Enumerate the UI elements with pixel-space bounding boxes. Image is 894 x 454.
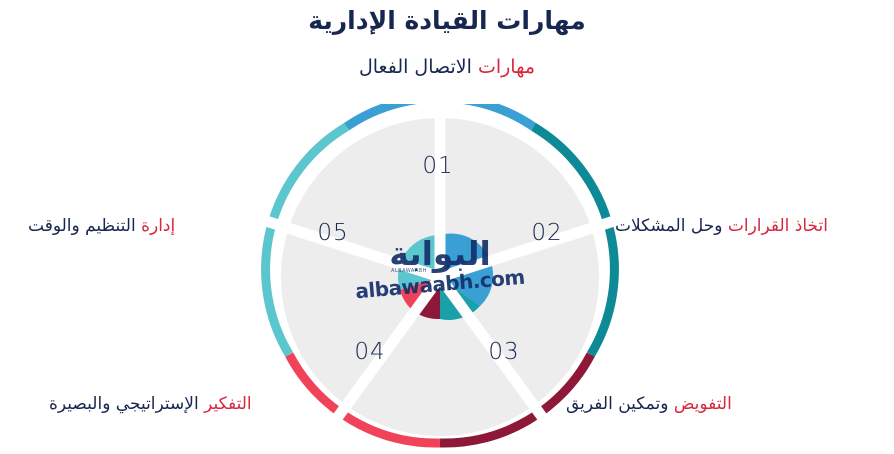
segment-02-label-rest: وحل المشكلات (615, 216, 728, 236)
segment-01-caption-rest: الاتصال الفعال (359, 56, 478, 78)
segment-04-label-rest: الإستراتيجي والبصيرة (49, 394, 204, 414)
segment-05-label-rest: التنظيم والوقت (28, 216, 141, 236)
segment-02-label-highlight: اتخاذ القرارات (728, 216, 828, 236)
segment-03-label-highlight: التفويض (674, 394, 732, 414)
page-title: مهارات القيادة الإدارية (0, 6, 894, 35)
segment-01-caption-highlight: مهارات (478, 56, 535, 78)
segment-number-05: 05 (303, 220, 363, 246)
segment-04-label: التفكير الإستراتيجي والبصيرة (49, 394, 252, 415)
segment-05-label-highlight: إدارة (141, 216, 175, 236)
segment-03-label-rest: وتمكين الفريق (566, 394, 674, 414)
segment-05-label: إدارة التنظيم والوقت (28, 216, 175, 237)
segment-01-caption: مهارات الاتصال الفعال (0, 56, 894, 78)
segment-03-label: التفويض وتمكين الفريق (566, 394, 732, 415)
segment-number-03: 03 (474, 339, 534, 365)
segment-02-label: اتخاذ القرارات وحل المشكلات (615, 216, 828, 237)
segment-number-01: 01 (408, 153, 468, 179)
segment-number-02: 02 (517, 220, 577, 246)
wheel-hub (398, 233, 493, 319)
segment-number-04: 04 (340, 339, 400, 365)
segment-04-label-highlight: التفكير (204, 394, 252, 414)
